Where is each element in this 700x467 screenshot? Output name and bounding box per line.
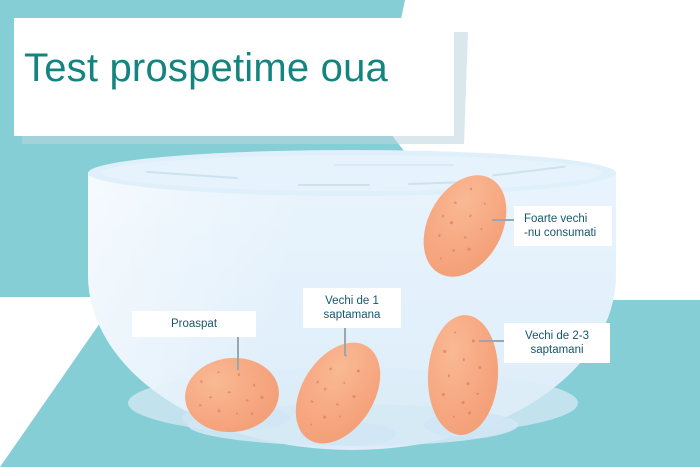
label-fresh: Proaspat — [132, 311, 256, 337]
leader-line-fresh — [237, 336, 239, 370]
page-title: Test prospetime oua — [24, 46, 388, 91]
water-highlight-dash — [334, 164, 454, 166]
water-highlight-dash — [298, 184, 370, 186]
leader-line-one-week — [344, 324, 346, 356]
infographic-canvas: Test prospetime oua — [0, 0, 700, 467]
leader-line-two-three-weeks — [479, 340, 507, 342]
label-very-old: Foarte vechi -nu consumati — [514, 206, 612, 246]
label-one-week: Vechi de 1 saptamana — [303, 288, 401, 328]
label-two-three-weeks: Vechi de 2-3 saptamani — [504, 323, 610, 363]
water-surface-icon — [88, 150, 616, 196]
